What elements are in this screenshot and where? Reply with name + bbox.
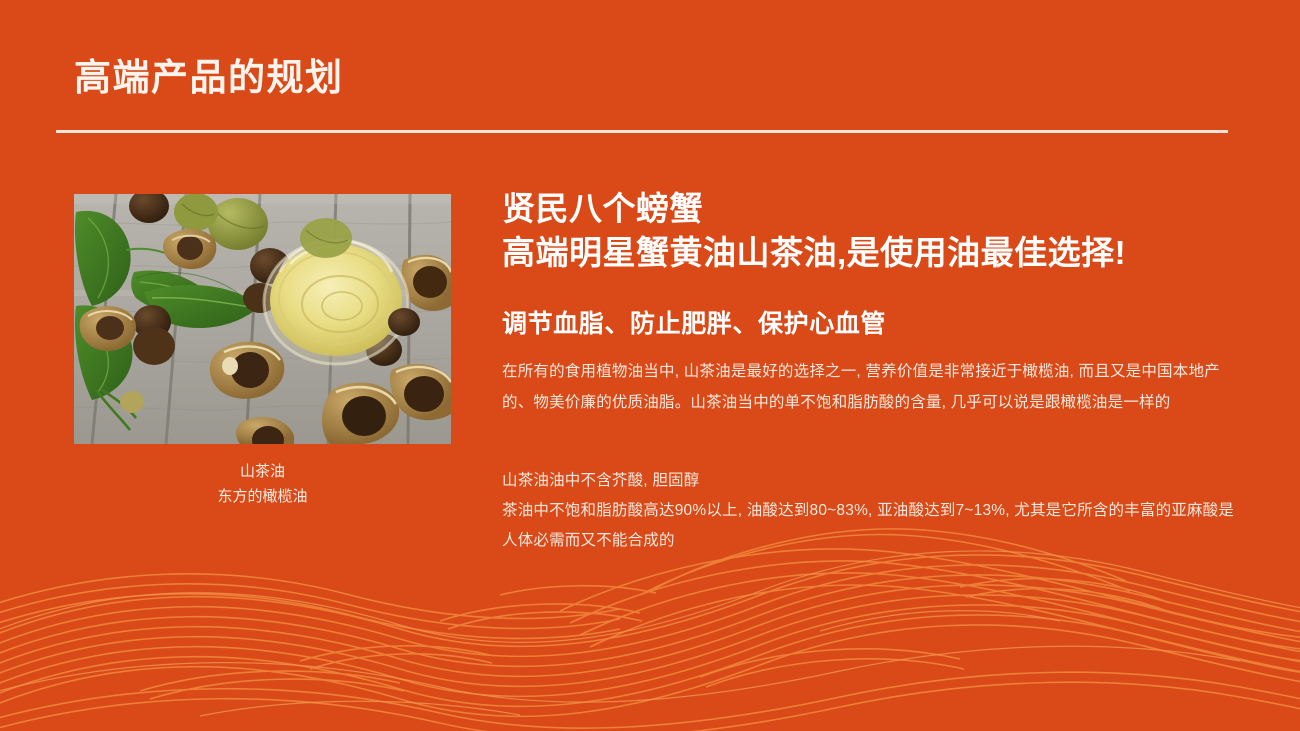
subheadline: 调节血脂、防止肥胖、保护心血管 — [502, 304, 1240, 340]
body-paragraph-2-line-1: 山茶油油中不含芥酸, 胆固醇 — [502, 466, 1240, 496]
body-paragraph-2: 山茶油油中不含芥酸, 胆固醇 茶油中不饱和脂肪酸高达90%以上, 油酸达到80~… — [502, 466, 1240, 557]
body-paragraph-1-text: 在所有的食用植物油当中, 山茶油是最好的选择之一, 营养价值是非常接近于橄榄油,… — [502, 357, 1240, 417]
headline-secondary: 高端明星蟹黄油山茶油,是使用油最佳选择! — [502, 232, 1240, 274]
page-title: 高端产品的规划 — [74, 58, 344, 99]
camellia-oil-seeds-photo — [74, 194, 451, 444]
photo-block: 山茶油 东方的橄榄油 — [74, 194, 451, 510]
content-column: 贤民八个螃蟹 高端明星蟹黄油山茶油,是使用油最佳选择! 调节血脂、防止肥胖、保护… — [502, 188, 1240, 557]
photo-caption-line-2: 东方的橄榄油 — [74, 485, 451, 510]
slide-canvas: 高端产品的规划 — [0, 0, 1300, 731]
headline-primary: 贤民八个螃蟹 — [502, 188, 1240, 230]
photo-caption-line-1: 山茶油 — [74, 460, 451, 485]
title-divider — [56, 130, 1228, 133]
photo-caption: 山茶油 东方的橄榄油 — [74, 460, 451, 510]
body-paragraph-1: 在所有的食用植物油当中, 山茶油是最好的选择之一, 营养价值是非常接近于橄榄油,… — [502, 357, 1240, 417]
body-paragraph-2-line-2: 茶油中不饱和脂肪酸高达90%以上, 油酸达到80~83%, 亚油酸达到7~13%… — [502, 496, 1240, 556]
